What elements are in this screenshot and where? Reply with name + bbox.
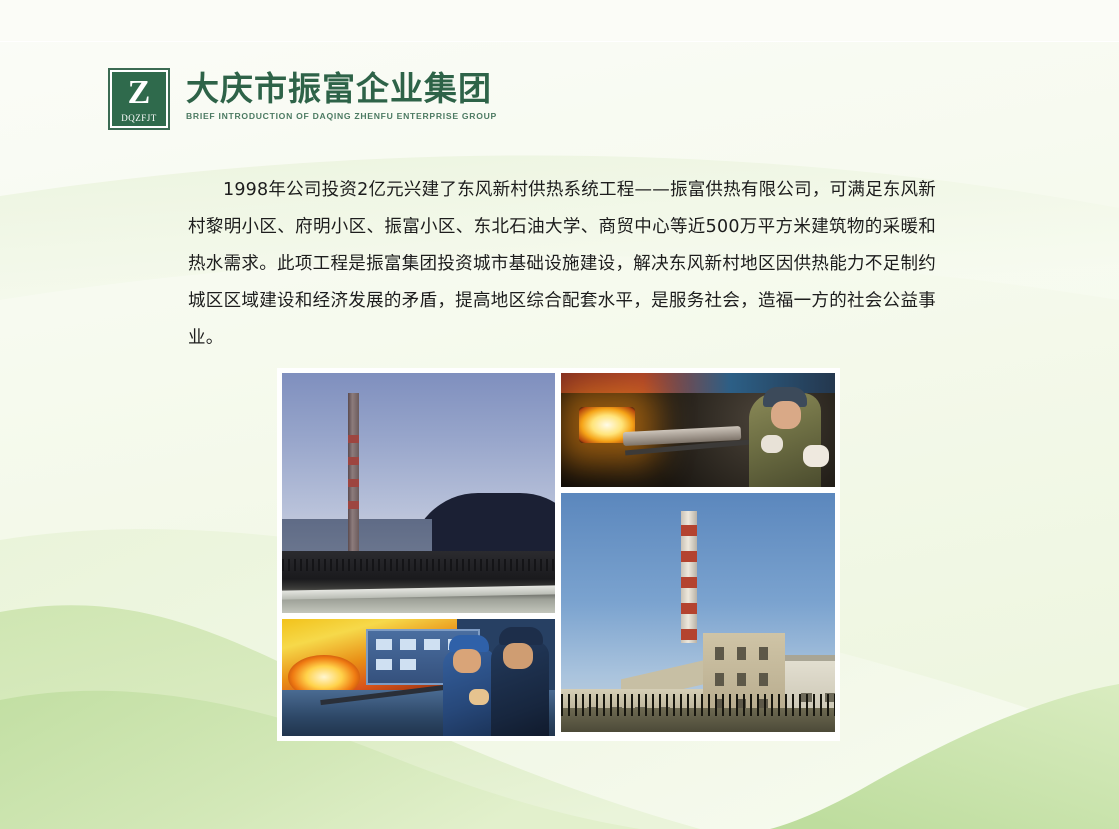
photo-collage — [277, 368, 840, 741]
collage-column-right — [561, 373, 835, 736]
brand-subtitle-en: BRIEF INTRODUCTION OF DAQING ZHENFU ENTE… — [186, 111, 497, 122]
photo-boiler-house — [561, 493, 835, 732]
collage-column-left — [282, 373, 555, 736]
logo-inner-block: Z DQZFJT — [112, 72, 166, 126]
photo-furnace-operator — [561, 373, 835, 487]
brand-text-block: 大庆市振富企业集团 BRIEF INTRODUCTION OF DAQING Z… — [186, 66, 497, 122]
logo-letter: Z — [112, 75, 166, 111]
brand-header: Z DQZFJT 大庆市振富企业集团 BRIEF INTRODUCTION OF… — [108, 66, 497, 130]
brand-title-cn: 大庆市振富企业集团 — [186, 70, 497, 108]
photo-heating-plant — [282, 373, 555, 613]
logo-abbreviation: DQZFJT — [112, 113, 166, 124]
photo-control-room — [282, 619, 555, 736]
slide-page: Z DQZFJT 大庆市振富企业集团 BRIEF INTRODUCTION OF… — [0, 0, 1119, 829]
body-paragraph: 1998年公司投资2亿元兴建了东风新村供热系统工程——振富供热有限公司，可满足东… — [188, 172, 936, 357]
company-logo-z-mark: Z DQZFJT — [108, 68, 170, 130]
top-white-band — [0, 0, 1119, 42]
